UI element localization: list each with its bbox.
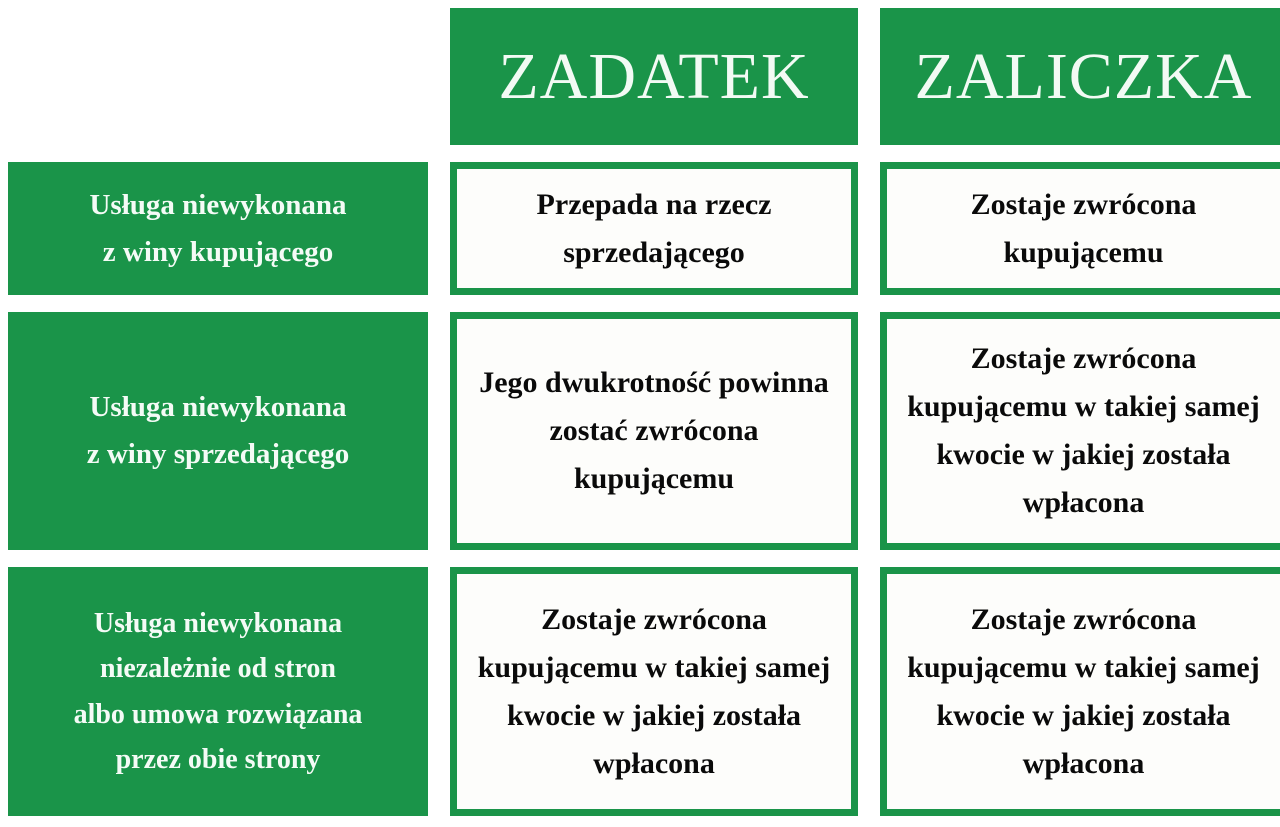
cell-row1-zaliczka-text: Zostaje zwrócona kupującemu	[901, 181, 1266, 277]
row-header-2-line2: z winy sprzedającego	[87, 438, 350, 470]
cell-row2-zadatek: Jego dwukrotność powinna zostać zwrócona…	[450, 312, 858, 550]
row-header-1-line2: z winy kupującego	[103, 236, 333, 268]
row-header-3: Usługa niewykonana niezależnie od stron …	[8, 567, 428, 816]
row-header-1: Usługa niewykonana z winy kupującego	[8, 162, 428, 295]
row-header-2-line1: Usługa niewykonana	[89, 391, 346, 423]
row-header-3-line2: niezależnie od stron	[100, 653, 336, 684]
cell-row3-zadatek: Zostaje zwrócona kupującemu w takiej sam…	[450, 567, 858, 816]
column-header-zadatek: ZADATEK	[450, 8, 858, 145]
table-grid: ZADATEK ZALICZKA Usługa niewykonana z wi…	[8, 8, 1280, 816]
row-header-3-line4: przez obie strony	[116, 744, 321, 775]
cell-row1-zadatek-text: Przepada na rzecz sprzedającego	[471, 181, 837, 277]
cell-row1-zadatek: Przepada na rzecz sprzedającego	[450, 162, 858, 295]
cell-row2-zaliczka: Zostaje zwrócona kupującemu w takiej sam…	[880, 312, 1280, 550]
cell-row2-zadatek-text: Jego dwukrotność powinna zostać zwrócona…	[471, 359, 837, 503]
cell-row3-zadatek-text: Zostaje zwrócona kupującemu w takiej sam…	[471, 596, 837, 788]
cell-row1-zaliczka: Zostaje zwrócona kupującemu	[880, 162, 1280, 295]
cell-row3-zaliczka: Zostaje zwrócona kupującemu w takiej sam…	[880, 567, 1280, 816]
column-header-zadatek-label: ZADATEK	[498, 44, 809, 110]
table-corner-cell	[8, 8, 428, 145]
column-header-zaliczka-label: ZALICZKA	[915, 44, 1253, 110]
comparison-table: ZADATEK ZALICZKA Usługa niewykonana z wi…	[0, 0, 1280, 827]
row-header-2-text: Usługa niewykonana z winy sprzedającego	[18, 384, 418, 478]
row-header-3-text: Usługa niewykonana niezależnie od stron …	[18, 601, 418, 782]
row-header-1-text: Usługa niewykonana z winy kupującego	[18, 182, 418, 276]
column-header-zaliczka: ZALICZKA	[880, 8, 1280, 145]
cell-row2-zaliczka-text: Zostaje zwrócona kupującemu w takiej sam…	[901, 335, 1266, 527]
row-header-1-line1: Usługa niewykonana	[89, 189, 346, 221]
cell-row3-zaliczka-text: Zostaje zwrócona kupującemu w takiej sam…	[901, 596, 1266, 788]
row-header-2: Usługa niewykonana z winy sprzedającego	[8, 312, 428, 550]
row-header-3-line3: albo umowa rozwiązana	[74, 699, 363, 730]
row-header-3-line1: Usługa niewykonana	[94, 608, 342, 639]
